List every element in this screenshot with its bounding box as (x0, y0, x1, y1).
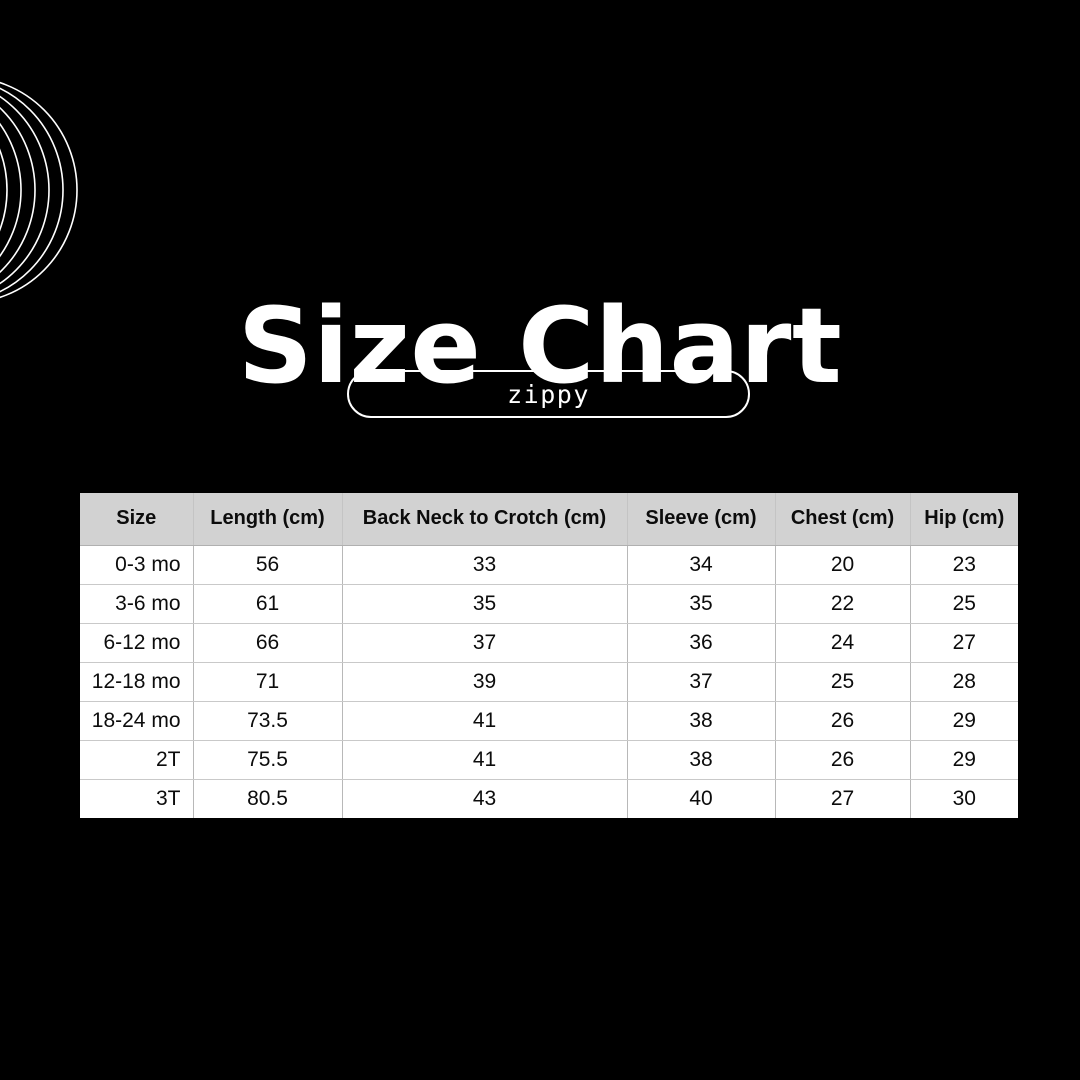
cell-hip: 29 (910, 740, 1018, 779)
cell-size: 3T (80, 779, 193, 818)
column-header-length: Length (cm) (193, 493, 342, 545)
cell-hip: 27 (910, 623, 1018, 662)
size-chart-table-container: Size Length (cm) Back Neck to Crotch (cm… (80, 493, 1018, 818)
cell-length: 66 (193, 623, 342, 662)
cell-chest: 22 (775, 584, 910, 623)
cell-size: 12-18 mo (80, 662, 193, 701)
cell-back-neck-to-crotch: 33 (342, 545, 627, 584)
column-header-hip: Hip (cm) (910, 493, 1018, 545)
size-chart-table: Size Length (cm) Back Neck to Crotch (cm… (80, 493, 1018, 818)
table-body: 0-3 mo 56 33 34 20 23 3-6 mo 61 35 35 22… (80, 545, 1018, 818)
column-header-sleeve: Sleeve (cm) (627, 493, 775, 545)
cell-sleeve: 38 (627, 701, 775, 740)
cell-sleeve: 40 (627, 779, 775, 818)
cell-back-neck-to-crotch: 41 (342, 740, 627, 779)
cell-size: 3-6 mo (80, 584, 193, 623)
decor-circle-4 (0, 77, 35, 303)
decor-circle-1 (0, 77, 77, 303)
cell-chest: 20 (775, 545, 910, 584)
table-row: 12-18 mo 71 39 37 25 28 (80, 662, 1018, 701)
column-header-chest: Chest (cm) (775, 493, 910, 545)
cell-length: 73.5 (193, 701, 342, 740)
cell-chest: 26 (775, 740, 910, 779)
decor-circle-3 (0, 77, 49, 303)
cell-length: 61 (193, 584, 342, 623)
table-row: 6-12 mo 66 37 36 24 27 (80, 623, 1018, 662)
cell-sleeve: 36 (627, 623, 775, 662)
cell-back-neck-to-crotch: 35 (342, 584, 627, 623)
brand-name-label: zippy (507, 382, 590, 407)
decor-circle-2 (0, 77, 63, 303)
cell-back-neck-to-crotch: 41 (342, 701, 627, 740)
table-header-row: Size Length (cm) Back Neck to Crotch (cm… (80, 493, 1018, 545)
cell-back-neck-to-crotch: 37 (342, 623, 627, 662)
cell-length: 75.5 (193, 740, 342, 779)
decor-circle-6 (0, 77, 7, 303)
cell-hip: 23 (910, 545, 1018, 584)
column-header-back-neck-to-crotch: Back Neck to Crotch (cm) (342, 493, 627, 545)
cell-hip: 30 (910, 779, 1018, 818)
cell-chest: 25 (775, 662, 910, 701)
cell-sleeve: 34 (627, 545, 775, 584)
cell-chest: 24 (775, 623, 910, 662)
table-row: 18-24 mo 73.5 41 38 26 29 (80, 701, 1018, 740)
cell-length: 71 (193, 662, 342, 701)
cell-hip: 28 (910, 662, 1018, 701)
table-row: 2T 75.5 41 38 26 29 (80, 740, 1018, 779)
cell-size: 0-3 mo (80, 545, 193, 584)
cell-sleeve: 38 (627, 740, 775, 779)
cell-sleeve: 37 (627, 662, 775, 701)
cell-size: 2T (80, 740, 193, 779)
spiral-decoration-graphic (0, 55, 210, 325)
cell-size: 18-24 mo (80, 701, 193, 740)
cell-size: 6-12 mo (80, 623, 193, 662)
table-row: 0-3 mo 56 33 34 20 23 (80, 545, 1018, 584)
cell-chest: 27 (775, 779, 910, 818)
cell-chest: 26 (775, 701, 910, 740)
table-row: 3-6 mo 61 35 35 22 25 (80, 584, 1018, 623)
cell-sleeve: 35 (627, 584, 775, 623)
cell-length: 56 (193, 545, 342, 584)
decor-circle-5 (0, 77, 21, 303)
brand-badge: zippy (347, 370, 750, 418)
table-row: 3T 80.5 43 40 27 30 (80, 779, 1018, 818)
table-header: Size Length (cm) Back Neck to Crotch (cm… (80, 493, 1018, 545)
cell-back-neck-to-crotch: 43 (342, 779, 627, 818)
cell-hip: 29 (910, 701, 1018, 740)
cell-back-neck-to-crotch: 39 (342, 662, 627, 701)
cell-length: 80.5 (193, 779, 342, 818)
cell-hip: 25 (910, 584, 1018, 623)
column-header-size: Size (80, 493, 193, 545)
